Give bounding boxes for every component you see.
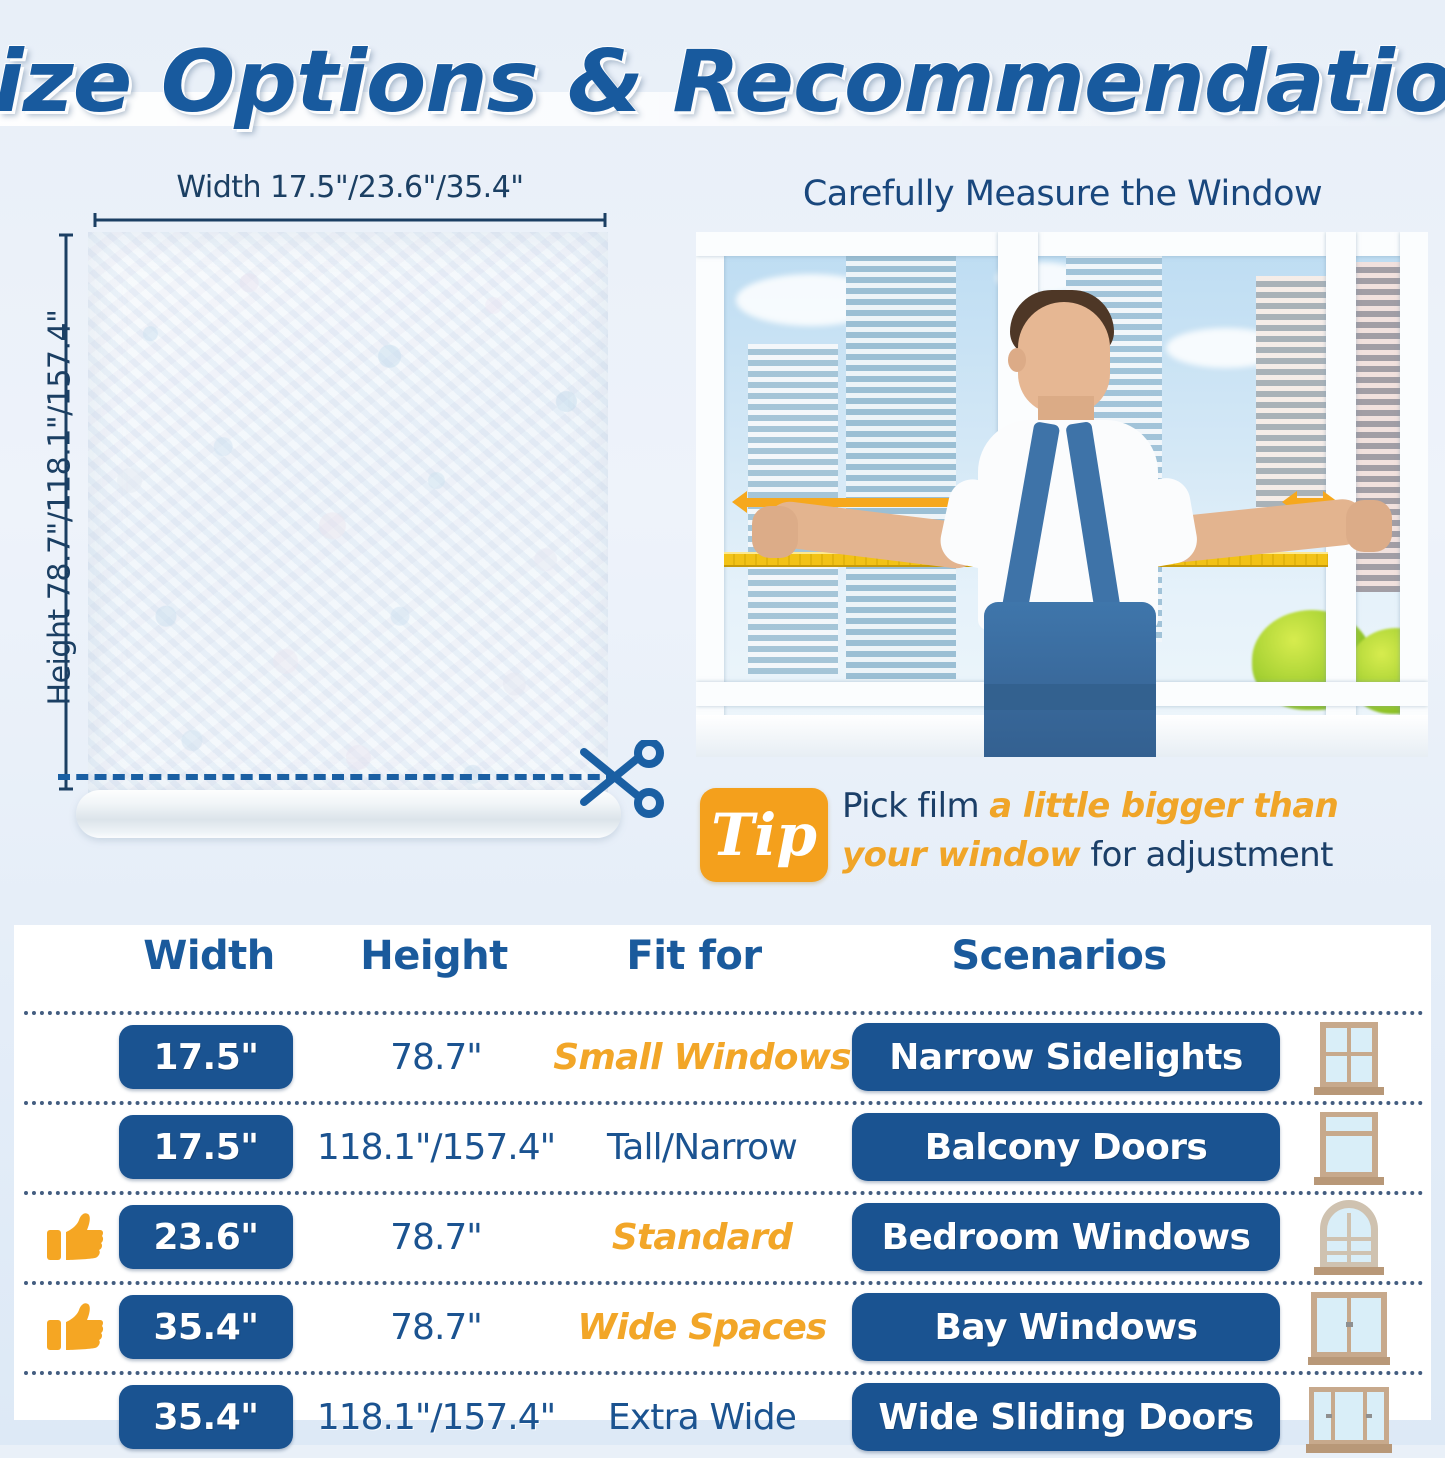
worker-hand-right [1346,500,1392,552]
tip-text: Pick film a little bigger than your wind… [842,782,1432,881]
tip-badge: Tip [700,788,828,882]
title-bar: Size Options & Recommendation [0,22,1445,142]
tip-callout: Tip Pick film a little bigger than your … [690,780,1435,900]
cell-width-value: 35.4" [153,1397,258,1438]
row-separator [24,1011,1424,1015]
thumbs-up-icon [46,1211,104,1265]
cell-width-value: 23.6" [153,1217,258,1258]
height-dimension-arrow-icon [58,232,74,792]
cell-height-value: 118.1"/157.4" [306,1115,566,1179]
thumbs-up-icon [46,1301,104,1355]
tip-line1-plain: Pick film [842,786,989,826]
tip-line2-plain: for adjustment [1080,835,1333,875]
size-recommendation-table: Width Height Fit for Scenarios 17.5" 78.… [14,925,1431,1420]
cell-fit-value: Standard [566,1205,838,1269]
window-sliding-door-icon [1306,1379,1392,1457]
tip-line2-highlight: your window [842,835,1080,875]
window-frame [1400,232,1428,757]
cell-scenario-value: Balcony Doors [925,1127,1208,1168]
width-dimension-label: Width 17.5"/23.6"/35.4" [90,170,610,205]
tip-badge-label: Tip [711,806,817,864]
cell-width-badge: 35.4" [119,1385,293,1449]
worker-waistband [984,684,1156,710]
cell-width-value: 17.5" [153,1037,258,1078]
cell-width-badge: 23.6" [119,1205,293,1269]
row-separator [24,1371,1424,1375]
worker-figure [934,272,1202,757]
tip-line1-highlight: a little bigger than [989,786,1338,826]
cell-fit-value: Extra Wide [566,1385,838,1449]
worker-hand-left [752,506,798,558]
table-header-row: Width Height Fit for Scenarios [14,933,1431,1003]
worker-ear [1008,348,1026,372]
row-separator [24,1281,1424,1285]
width-dimension-arrow-icon [92,212,608,228]
film-dimension-panel: Width 17.5"/23.6"/35.4" Height 78.7"/118… [0,160,690,920]
cell-width-badge: 17.5" [119,1025,293,1089]
scissors-icon [578,740,668,818]
table-header-width: Width [109,933,309,979]
row-separator [24,1101,1424,1105]
cut-line-dashed [58,774,618,780]
cell-fit-value: Wide Spaces [566,1295,838,1359]
cell-scenario-badge: Bay Windows [852,1293,1280,1361]
window-double-casement-icon [1306,1289,1392,1367]
cell-width-badge: 17.5" [119,1115,293,1179]
table-row: 35.4" 118.1"/157.4" Extra Wide Wide Slid… [14,1377,1431,1458]
cell-scenario-badge: Wide Sliding Doors [852,1383,1280,1451]
table-header-scenarios: Scenarios [834,933,1284,979]
window-arched-icon [1306,1199,1392,1277]
cell-scenario-value: Bay Windows [935,1307,1198,1348]
window-frame [696,232,724,757]
table-row: 17.5" 118.1"/157.4" Tall/Narrow Balcony … [14,1107,1431,1188]
cell-fit-value: Tall/Narrow [566,1115,838,1179]
cell-height-value: 78.7" [306,1025,566,1089]
cell-width-value: 35.4" [153,1307,258,1348]
infographic-page: Size Options & Recommendation Width 17.5… [0,0,1445,1445]
worker-overalls [984,602,1156,757]
window-transom-icon [1306,1109,1392,1187]
window-four-pane-icon [1306,1019,1392,1097]
table-row: 17.5" 78.7" Small Windows Narrow Sidelig… [14,1017,1431,1098]
cell-scenario-badge: Bedroom Windows [852,1203,1280,1271]
cell-scenario-value: Narrow Sidelights [889,1037,1242,1078]
frosted-window-film-sheet [88,232,608,797]
cell-height-value: 78.7" [306,1295,566,1359]
measure-photo-title: Carefully Measure the Window [690,174,1435,214]
table-header-fit-for: Fit for [559,933,829,979]
table-row: 35.4" 78.7" Wide Spaces Bay Windows [14,1287,1431,1368]
table-row: 23.6" 78.7" Standard Bedroom Windows [14,1197,1431,1278]
cell-width-value: 17.5" [153,1127,258,1168]
cell-height-value: 78.7" [306,1205,566,1269]
page-title: Size Options & Recommendation [0,32,1445,132]
cell-width-badge: 35.4" [119,1295,293,1359]
cell-fit-value: Small Windows [566,1025,838,1089]
window-measuring-photo [696,232,1428,757]
cell-height-value: 118.1"/157.4" [306,1385,566,1449]
cell-scenario-badge: Narrow Sidelights [852,1023,1280,1091]
window-film-roll [76,790,621,838]
cell-scenario-value: Wide Sliding Doors [878,1397,1253,1438]
table-header-height: Height [314,933,554,979]
window-frame [696,232,1428,256]
row-separator [24,1191,1424,1195]
cell-scenario-badge: Balcony Doors [852,1113,1280,1181]
cell-scenario-value: Bedroom Windows [882,1217,1251,1258]
